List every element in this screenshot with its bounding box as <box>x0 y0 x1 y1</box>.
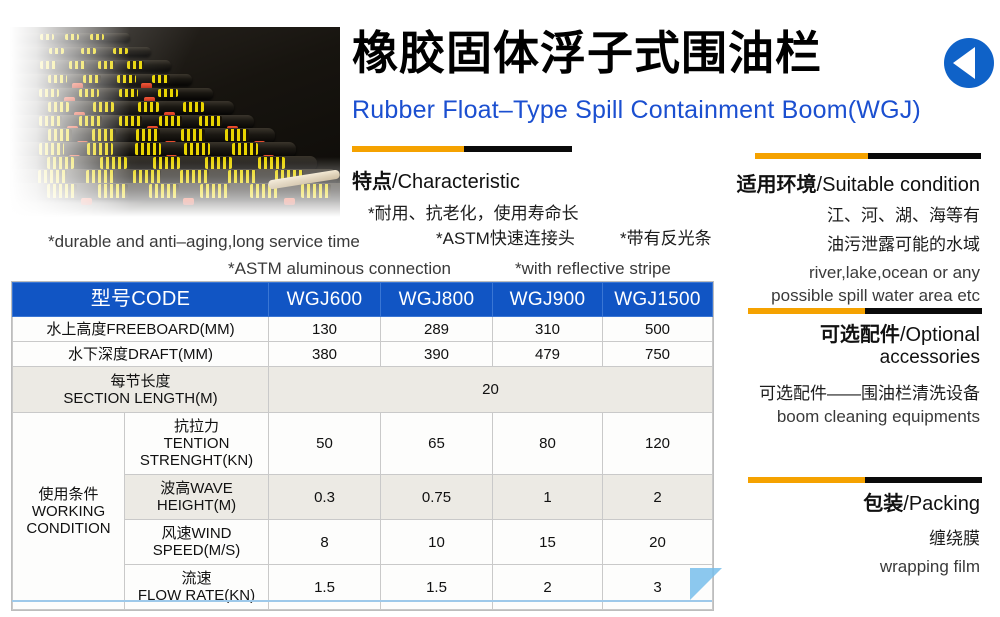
divider-black-segment <box>865 308 982 314</box>
characteristic-en-item-1: *durable and anti–aging,long service tim… <box>48 232 360 252</box>
cell-section-length-all: 20 <box>269 367 713 413</box>
cell-wind-wgj1500: 20 <box>603 520 713 565</box>
table-bottom-edge <box>12 600 712 602</box>
row-label-freeboard: 水上高度FREEBOARD(MM) <box>13 317 269 342</box>
cell-freeboard-wgj900: 310 <box>493 317 603 342</box>
suitable-condition-cn-2: 油污泄露可能的水域 <box>712 230 980 255</box>
row-label-section-length: 每节长度 SECTION LENGTH(M) <box>13 367 269 413</box>
table-row: 水上高度FREEBOARD(MM) 130 289 310 500 <box>13 317 713 342</box>
table-header-wgj800: WGJ800 <box>381 283 493 317</box>
optional-accessories-heading-en2: accessories <box>712 347 980 369</box>
cell-flow-wgj600: 1.5 <box>269 565 381 610</box>
cell-tention-wgj800: 65 <box>381 413 493 475</box>
characteristic-cn-item-1: *耐用、抗老化，使用寿命长 <box>368 199 579 224</box>
characteristic-heading-cn: 特点 <box>352 171 392 193</box>
row-label-wind-en: SPEED(M/S) <box>128 542 265 559</box>
cell-freeboard-wgj1500: 500 <box>603 317 713 342</box>
packing-section: 包装/Packing 缠绕膜 wrapping film <box>712 487 980 577</box>
row-label-section-length-en: SECTION LENGTH(M) <box>16 390 265 407</box>
table-header-row: 型号CODE WGJ600 WGJ800 WGJ900 WGJ1500 <box>13 283 713 317</box>
characteristic-cn-item-3: *带有反光条 <box>620 224 712 249</box>
optional-accessories-heading: 可选配件/Optional <box>712 318 980 347</box>
cell-tention-wgj600: 50 <box>269 413 381 475</box>
cell-flow-wgj800: 1.5 <box>381 565 493 610</box>
suitable-condition-en-2: possible spill water area etc <box>712 286 980 306</box>
left-arrow-circle-icon <box>944 38 994 88</box>
row-label-flow-rate: 流速 FLOW RATE(KN) <box>125 565 269 610</box>
row-label-wave-height: 波高WAVE HEIGHT(M) <box>125 475 269 520</box>
divider-black-segment <box>464 146 572 152</box>
specification-table: 型号CODE WGJ600 WGJ800 WGJ900 WGJ1500 水上高度… <box>12 282 713 610</box>
cell-draft-wgj900: 479 <box>493 342 603 367</box>
divider-orange-segment <box>748 308 865 314</box>
row-group-working-condition: 使用条件 WORKING CONDITION <box>13 413 125 610</box>
optional-accessories-heading-cn: 可选配件 <box>820 324 900 346</box>
divider-packing <box>748 477 982 483</box>
cell-wind-wgj800: 10 <box>381 520 493 565</box>
table-header-wgj600: WGJ600 <box>269 283 381 317</box>
cell-tention-wgj900: 80 <box>493 413 603 475</box>
photo-bottom-fade <box>10 157 340 217</box>
suitable-condition-heading-en: Suitable condition <box>822 174 980 196</box>
group-label-en2: CONDITION <box>16 520 121 537</box>
packing-heading: 包装/Packing <box>712 487 980 516</box>
suitable-condition-cn-1: 江、河、湖、海等有 <box>712 201 980 226</box>
table-row: 每节长度 SECTION LENGTH(M) 20 <box>13 367 713 413</box>
row-label-wind-speed: 风速WIND SPEED(M/S) <box>125 520 269 565</box>
packing-cn-1: 缠绕膜 <box>712 524 980 549</box>
group-label-en1: WORKING <box>16 503 121 520</box>
divider-suitable-condition <box>755 153 981 159</box>
suitable-condition-heading: 适用环境/Suitable condition <box>712 168 980 197</box>
cell-wind-wgj900: 15 <box>493 520 603 565</box>
row-label-section-length-cn: 每节长度 <box>16 373 265 390</box>
suitable-condition-section: 适用环境/Suitable condition 江、河、湖、海等有 油污泄露可能… <box>712 168 980 306</box>
packing-en-1: wrapping film <box>712 557 980 577</box>
divider-black-segment <box>865 477 982 483</box>
suitable-condition-en-1: river,lake,ocean or any <box>712 263 980 283</box>
suitable-condition-heading-cn: 适用环境 <box>737 174 817 196</box>
packing-heading-en: Packing <box>909 493 980 515</box>
cell-wave-wgj600: 0.3 <box>269 475 381 520</box>
divider-orange-segment <box>755 153 868 159</box>
group-label-cn: 使用条件 <box>16 486 121 503</box>
table-row: 使用条件 WORKING CONDITION 抗拉力 TENTION STREN… <box>13 413 713 475</box>
cell-freeboard-wgj800: 289 <box>381 317 493 342</box>
row-label-tention-en1: TENTION <box>128 435 265 452</box>
cell-tention-wgj1500: 120 <box>603 413 713 475</box>
characteristic-heading-en: Characteristic <box>398 171 520 193</box>
row-label-tention-strenght: 抗拉力 TENTION STRENGHT(KN) <box>125 413 269 475</box>
page-title-cn: 橡胶固体浮子式围油栏 <box>352 26 952 80</box>
page-title-en: Rubber Float–Type Spill Containment Boom… <box>352 96 992 125</box>
optional-accessories-heading-en: Optional <box>906 324 981 346</box>
row-label-flow-cn: 流速 <box>128 570 265 587</box>
row-label-tention-en2: STRENGHT(KN) <box>128 452 265 469</box>
divider-orange-segment <box>352 146 464 152</box>
table-header-wgj1500: WGJ1500 <box>603 283 713 317</box>
row-label-tention-cn: 抗拉力 <box>128 418 265 435</box>
divider-optional-accessories <box>748 308 982 314</box>
cell-wave-wgj900: 1 <box>493 475 603 520</box>
cell-freeboard-wgj600: 130 <box>269 317 381 342</box>
cell-wave-wgj800: 0.75 <box>381 475 493 520</box>
optional-accessories-section: 可选配件/Optional accessories 可选配件——围油栏清洗设备 … <box>712 318 980 427</box>
table-header-wgj900: WGJ900 <box>493 283 603 317</box>
cell-flow-wgj900: 2 <box>493 565 603 610</box>
divider-characteristic <box>352 146 572 152</box>
table-row: 水下深度DRAFT(MM) 380 390 479 750 <box>13 342 713 367</box>
divider-orange-segment <box>748 477 865 483</box>
row-label-wave-en: HEIGHT(M) <box>128 497 265 514</box>
row-label-draft: 水下深度DRAFT(MM) <box>13 342 269 367</box>
table-corner-accent <box>690 568 722 600</box>
arrow-triangle <box>953 47 975 79</box>
cell-wind-wgj600: 8 <box>269 520 381 565</box>
product-photo <box>10 27 340 217</box>
row-label-wave-cn: 波高WAVE <box>128 480 265 497</box>
cell-draft-wgj600: 380 <box>269 342 381 367</box>
table-header-code: 型号CODE <box>13 283 269 317</box>
characteristic-section: 特点/Characteristic <box>352 165 742 194</box>
characteristic-cn-item-2: *ASTM快速连接头 <box>436 224 575 249</box>
divider-black-segment <box>868 153 981 159</box>
characteristic-heading: 特点/Characteristic <box>352 165 742 194</box>
packing-heading-cn: 包装 <box>863 493 903 515</box>
cell-draft-wgj1500: 750 <box>603 342 713 367</box>
optional-accessories-en-1: boom cleaning equipments <box>712 407 980 427</box>
optional-accessories-cn-1: 可选配件——围油栏清洗设备 <box>712 379 980 404</box>
cell-draft-wgj800: 390 <box>381 342 493 367</box>
cell-wave-wgj1500: 2 <box>603 475 713 520</box>
row-label-wind-cn: 风速WIND <box>128 525 265 542</box>
characteristic-en-item-3: *with reflective stripe <box>515 259 671 279</box>
characteristic-en-item-2: *ASTM aluminous connection <box>228 259 451 279</box>
product-datasheet-page: 橡胶固体浮子式围油栏 Rubber Float–Type Spill Conta… <box>0 0 1000 617</box>
